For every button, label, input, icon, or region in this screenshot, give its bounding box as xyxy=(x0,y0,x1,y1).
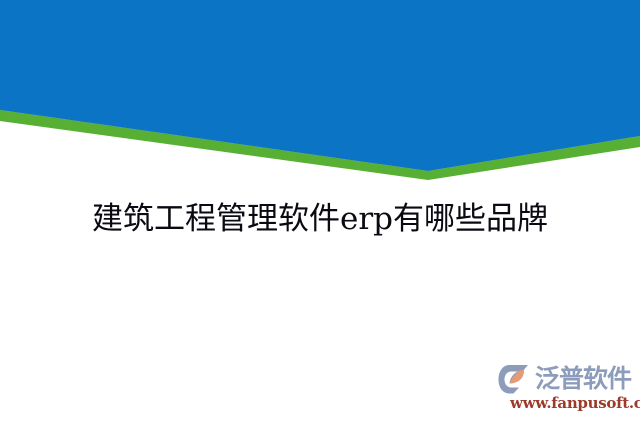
brand-lockup: 泛普软件 xyxy=(498,362,631,396)
fanpu-swoosh-logo-icon xyxy=(498,363,532,395)
decorative-banner xyxy=(0,0,640,180)
slide-canvas: 建筑工程管理软件erp有哪些品牌 泛普软件 www.fanpusoft.com xyxy=(0,0,640,427)
brand-name: 泛普软件 xyxy=(535,364,631,394)
banner-green-stripe xyxy=(0,110,640,180)
banner-blue-shape xyxy=(0,0,640,171)
brand-url: www.fanpusoft.com xyxy=(510,394,640,412)
brand-watermark: 泛普软件 www.fanpusoft.com xyxy=(498,362,638,418)
page-title: 建筑工程管理软件erp有哪些品牌 xyxy=(0,196,640,242)
